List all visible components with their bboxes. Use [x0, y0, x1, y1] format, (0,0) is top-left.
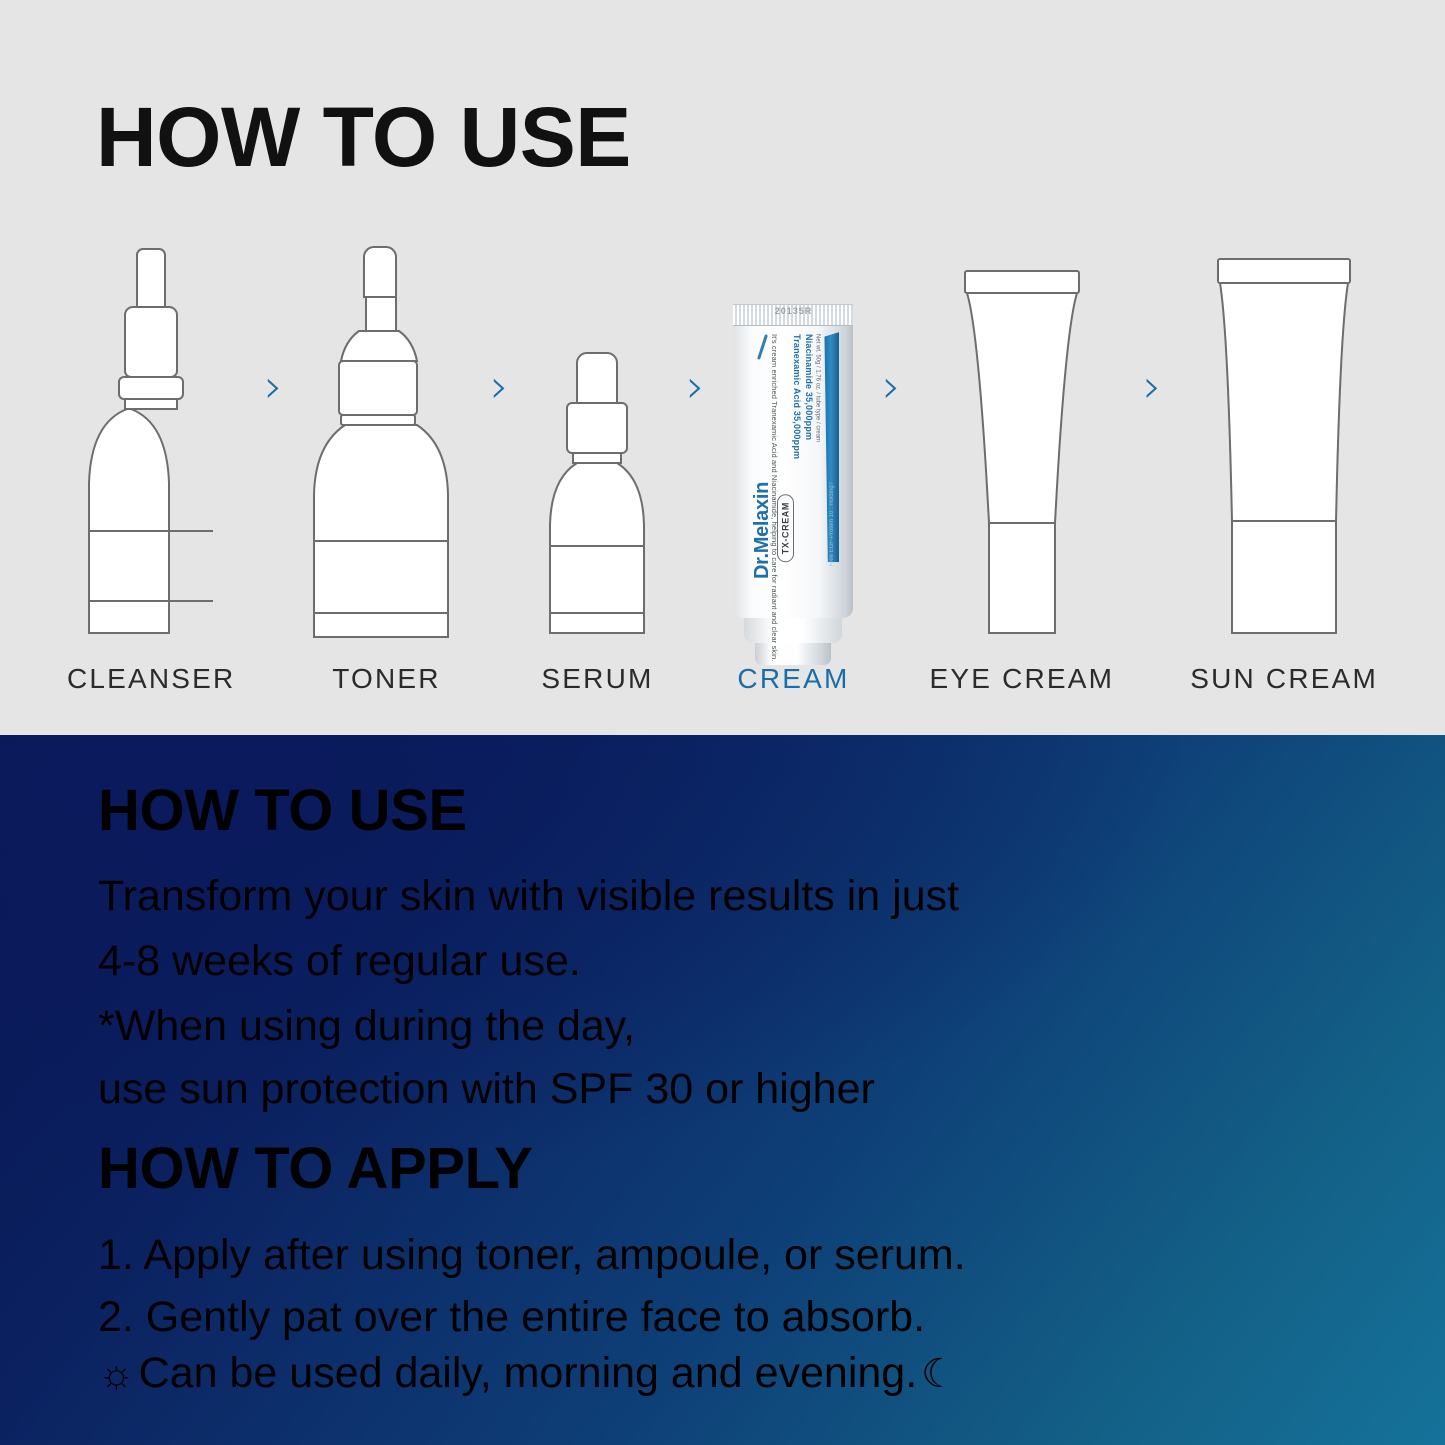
step-separator-icon: › [461, 215, 537, 695]
step-label-serum: SERUM [541, 663, 653, 695]
infographic-page: HOW TO USE CLEANSER [0, 0, 1445, 1445]
eye-cream-tube-illustration [947, 241, 1097, 641]
routine-step-cleanser: CLEANSER [67, 215, 236, 695]
routine-step-eye-cream: EYE CREAM [929, 215, 1114, 695]
serum-bottle-illustration [537, 241, 657, 641]
squeeze-tube-large-icon [1204, 241, 1364, 641]
tube-brand-name: Dr.Melaxin [751, 482, 774, 579]
cream-tube-illustration: 20135R It's cream enriched Tranexamic Ac… [733, 241, 853, 641]
product-tube: 20135R It's cream enriched Tranexamic Ac… [733, 286, 853, 641]
tube-ingredient-2: Niacinamide 35,000ppm [803, 334, 813, 440]
daily-usage-note: ☼ Can be used daily, morning and evening… [98, 1352, 957, 1395]
use-line-3: *When using during the day, [98, 1005, 635, 1048]
routine-steps: CLEANSER › TONER [0, 215, 1445, 695]
squeeze-tube-small-icon [947, 241, 1097, 641]
page-title: HOW TO USE [96, 95, 631, 179]
how-to-use-heading: HOW TO USE [98, 782, 467, 840]
step-label-cleanser: CLEANSER [67, 663, 236, 695]
toner-bottle-icon [311, 241, 461, 641]
step-separator-icon: › [1114, 215, 1190, 695]
use-line-4: use sun protection with SPF 30 or higher [98, 1068, 875, 1111]
toner-bottle-illustration [311, 241, 461, 641]
dropper-bottle-small-icon [537, 241, 657, 641]
dropper-bottle-large-icon [71, 241, 231, 641]
step-label-cream: CREAM [737, 663, 849, 695]
step-label-toner: TONER [332, 663, 441, 695]
use-line-1: Transform your skin with visible results… [98, 875, 959, 918]
step-separator-icon: › [853, 215, 929, 695]
sun-icon: ☼ [98, 1354, 135, 1394]
step-label-sun-cream: SUN CREAM [1190, 663, 1378, 695]
routine-step-serum: SERUM [537, 215, 657, 695]
tube-net-weight: Net wt. 50g / 1.76 oz. / tube type / cre… [813, 334, 820, 442]
tube-side-text: Free EGF-Protein 10 : Holding? [829, 482, 835, 566]
tube-product-badge: TX-CREAM [777, 494, 794, 562]
tube-crimp-code: 20135R [733, 306, 853, 316]
daily-usage-text: Can be used daily, morning and evening. [139, 1352, 918, 1395]
cleanser-bottle-illustration [71, 241, 231, 641]
apply-step-2: 2. Gently pat over the entire face to ab… [98, 1296, 925, 1339]
step-separator-icon: › [657, 215, 733, 695]
routine-step-sun-cream: SUN CREAM [1190, 215, 1378, 695]
step-separator-icon: › [235, 215, 311, 695]
routine-step-toner: TONER [311, 215, 461, 695]
tube-ingredient-1: Tranexamic Acid 35,000ppm [791, 334, 801, 459]
step-label-eye-cream: EYE CREAM [929, 663, 1114, 695]
apply-step-1: 1. Apply after using toner, ampoule, or … [98, 1234, 966, 1277]
sun-cream-tube-illustration [1204, 241, 1364, 641]
routine-step-cream: 20135R It's cream enriched Tranexamic Ac… [733, 215, 853, 695]
moon-icon: ☾ [921, 1354, 957, 1394]
routine-panel: HOW TO USE CLEANSER [0, 0, 1445, 735]
use-line-2: 4-8 weeks of regular use. [98, 940, 581, 983]
how-to-apply-heading: HOW TO APPLY [98, 1140, 533, 1198]
